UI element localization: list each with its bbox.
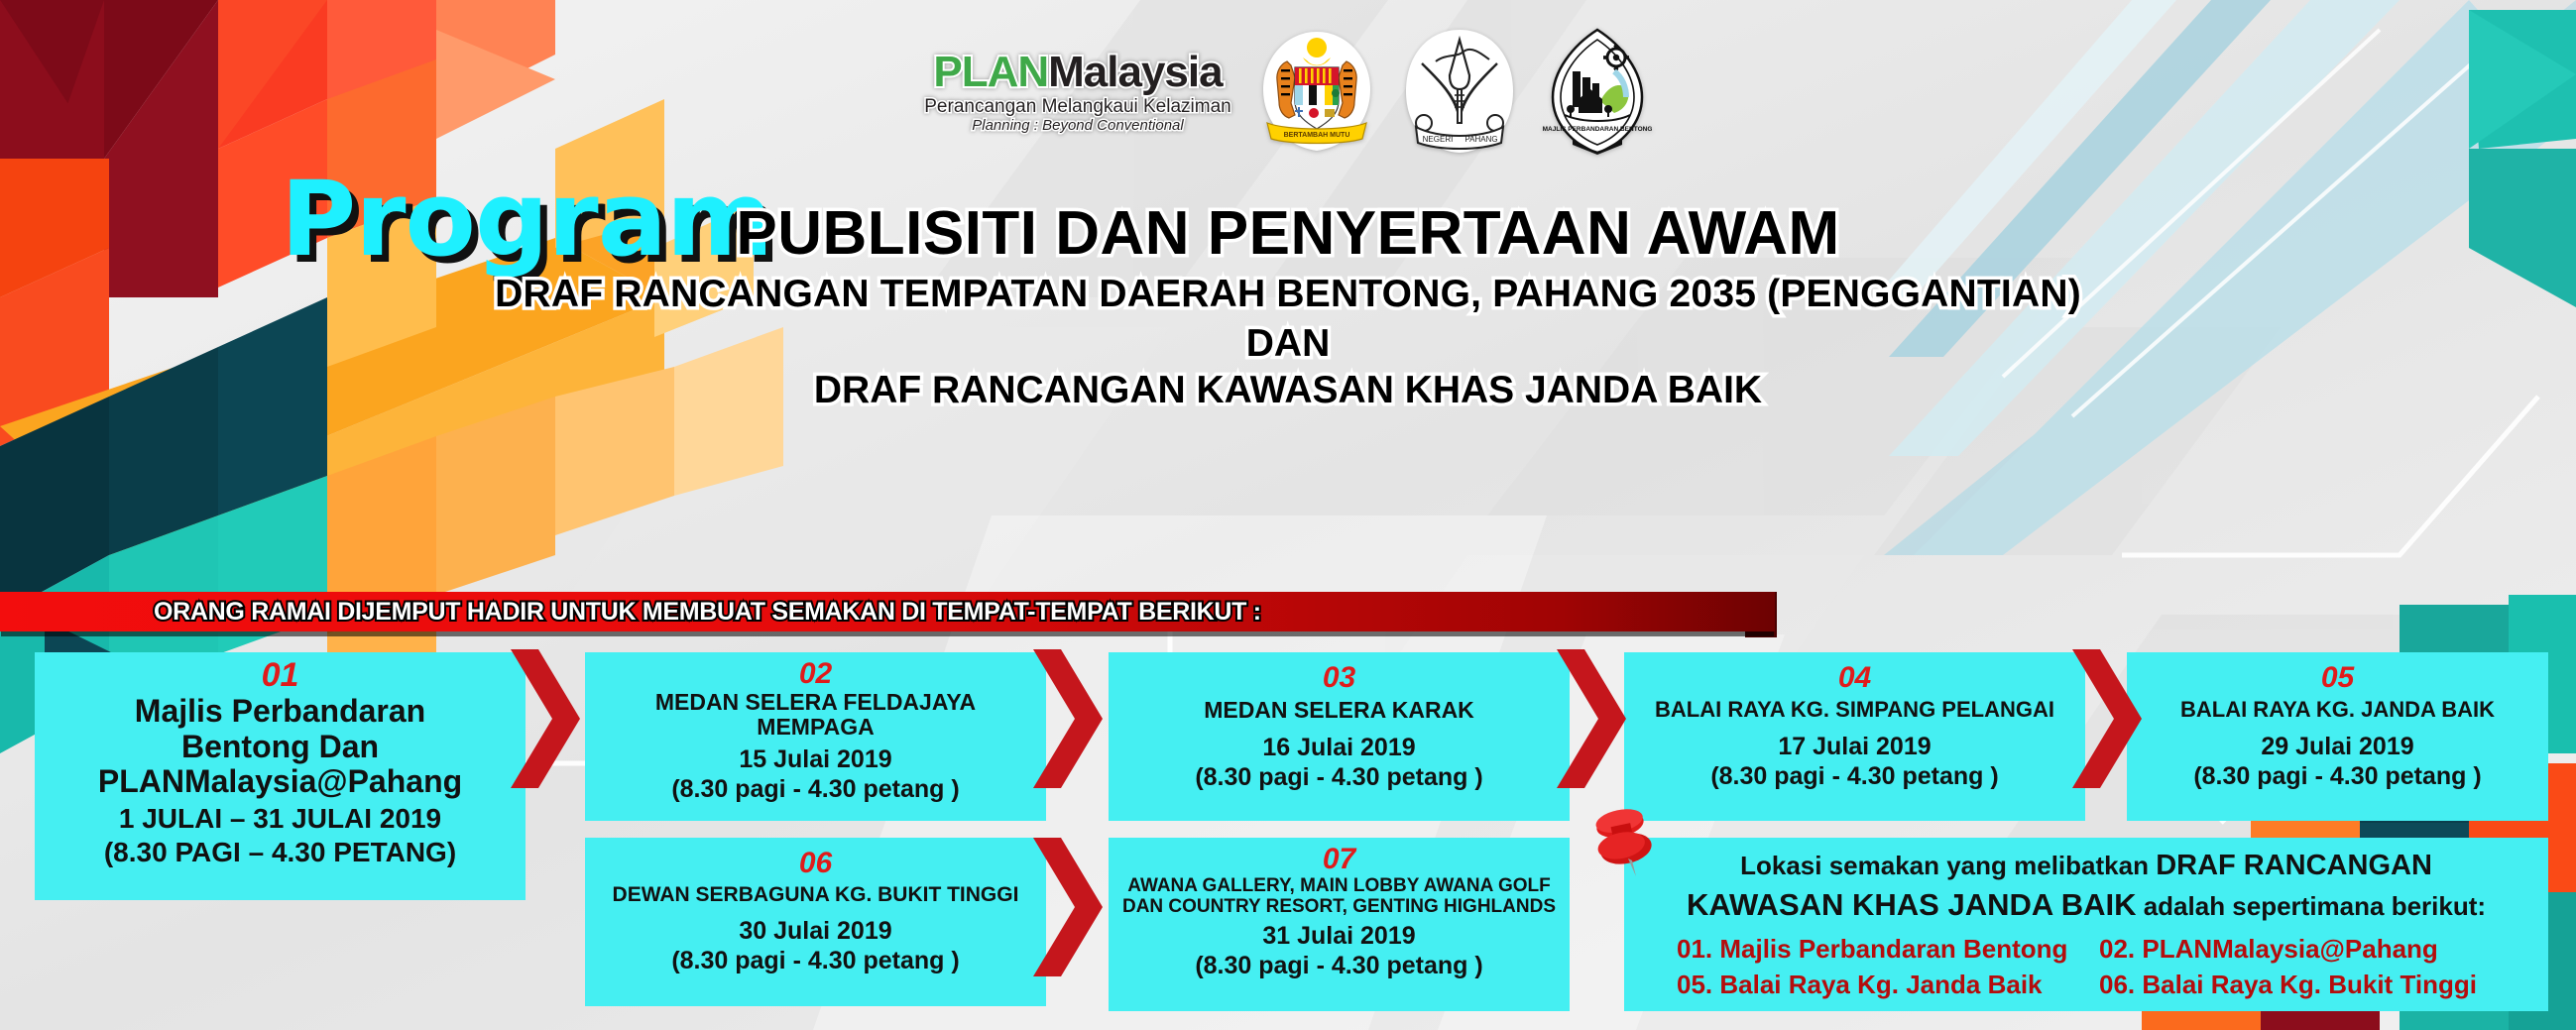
planmalaysia-malaysia-text: Malaysia — [1048, 48, 1222, 96]
logo-row: PLANMalaysia Perancangan Melangkaui Kela… — [0, 22, 2576, 161]
venue-name-line: Majlis Perbandaran — [135, 694, 425, 730]
negeri-pahang-crest-icon: NEGERI PAHANG — [1402, 28, 1517, 155]
venue-time: (8.30 PAGI – 4.30 PETANG) — [104, 836, 456, 869]
venue-time: (8.30 pagi - 4.30 petang ) — [1195, 951, 1482, 980]
svg-text:BERTAMBAH MUTU: BERTAMBAH MUTU — [1283, 132, 1349, 139]
venue-number: 07 — [1323, 844, 1355, 875]
venue-number: 05 — [2321, 662, 2354, 694]
venue-name-line: PLANMalaysia@Pahang — [98, 764, 462, 800]
planmalaysia-tagline-en: Planning : Beyond Conventional — [972, 118, 1184, 133]
venue-date: 31 Julai 2019 — [1262, 921, 1415, 951]
venue-card-01[interactable]: 01 Majlis Perbandaran Bentong Dan PLANMa… — [35, 652, 526, 900]
info-row1-bold: DRAF RANCANGAN — [2156, 850, 2432, 881]
venue-name-line: BALAI RAYA KG. JANDA BAIK — [2180, 698, 2495, 723]
title-line-2: DRAF RANCANGAN TEMPATAN DAERAH BENTONG, … — [0, 273, 2576, 316]
venue-name-line: MEDAN SELERA KARAK — [1204, 698, 1474, 724]
info-item-05: 05. Balai Raya Kg. Janda Baik — [1677, 969, 2073, 1002]
planmalaysia-tagline-my: Perancangan Melangkaui Kelaziman — [924, 97, 1230, 116]
majlis-perbandaran-bentong-crest-icon: MAJLIS PERBANDARAN BENTONG — [1543, 28, 1652, 155]
venue-date: 15 Julai 2019 — [739, 744, 891, 774]
venue-name-line: DEWAN SERBAGUNA KG. BUKIT TINGGI — [613, 883, 1019, 907]
venue-date: 16 Julai 2019 — [1262, 733, 1415, 762]
venue-name-line: AWANA GALLERY, MAIN LOBBY AWANA GOLF — [1127, 875, 1550, 896]
venue-name-line: MEDAN SELERA FELDAJAYA — [655, 690, 976, 716]
invitation-ribbon-text: ORANG RAMAI DIJEMPUT HADIR UNTUK MEMBUAT… — [154, 592, 1775, 631]
info-item-02: 02. PLANMalaysia@Pahang — [2099, 933, 2496, 967]
chevron-arrow-icon-3 — [1557, 649, 1626, 788]
venue-date: 30 Julai 2019 — [739, 916, 891, 946]
title-line-1: PUBLISITI DAN PENYERTAAN AWAM — [0, 198, 2576, 269]
info-row2-plain: adalah sepertimana berikut: — [2136, 891, 2486, 921]
venue-number: 02 — [799, 658, 832, 690]
venue-time: (8.30 pagi - 4.30 petang ) — [1710, 761, 1998, 791]
venue-time: (8.30 pagi - 4.30 petang ) — [2193, 761, 2481, 791]
info-row2-bold: KAWASAN KHAS JANDA BAIK — [1687, 887, 2137, 922]
title-line-3: DAN — [0, 322, 2576, 366]
venue-number: 01 — [262, 658, 299, 694]
janda-baik-info-panel: Lokasi semakan yang melibatkan DRAF RANC… — [1624, 838, 2548, 1011]
invitation-ribbon: ORANG RAMAI DIJEMPUT HADIR UNTUK MEMBUAT… — [0, 592, 1775, 631]
info-row1-plain: Lokasi semakan yang melibatkan — [1740, 851, 2156, 880]
venue-number: 04 — [1838, 662, 1871, 694]
info-item-06: 06. Balai Raya Kg. Bukit Tinggi — [2099, 969, 2496, 1002]
venue-date: 1 JULAI – 31 JULAI 2019 — [119, 802, 441, 836]
planmalaysia-plan-text: PLAN — [933, 48, 1048, 96]
svg-text:MAJLIS PERBANDARAN BENTONG: MAJLIS PERBANDARAN BENTONG — [1543, 126, 1652, 133]
venue-name-line: MEMPAGA — [757, 715, 874, 741]
venue-date: 17 Julai 2019 — [1778, 732, 1931, 761]
venue-name-line: DAN COUNTRY RESORT, GENTING HIGHLANDS — [1122, 896, 1556, 917]
venue-card-04[interactable]: 04 BALAI RAYA KG. SIMPANG PELANGAI 17 Ju… — [1624, 652, 2085, 821]
chevron-arrow-icon-5 — [1033, 838, 1103, 976]
venue-card-07[interactable]: 07 AWANA GALLERY, MAIN LOBBY AWANA GOLF … — [1109, 838, 1570, 1011]
title-line-4: DRAF RANCANGAN KAWASAN KHAS JANDA BAIK — [0, 369, 2576, 412]
pushpin-icon — [1586, 803, 1666, 892]
venue-card-05[interactable]: 05 BALAI RAYA KG. JANDA BAIK 29 Julai 20… — [2127, 652, 2548, 821]
chevron-arrow-icon-1 — [511, 649, 580, 788]
info-item-01: 01. Majlis Perbandaran Bentong — [1677, 933, 2073, 967]
poster-banner: PLANMalaysia Perancangan Melangkaui Kela… — [0, 0, 2576, 1030]
venue-number: 03 — [1323, 662, 1355, 694]
venue-time: (8.30 pagi - 4.30 petang ) — [1195, 762, 1482, 792]
venue-name-line: BALAI RAYA KG. SIMPANG PELANGAI — [1655, 698, 2054, 723]
venue-time: (8.30 pagi - 4.30 petang ) — [671, 946, 959, 975]
svg-text:PAHANG: PAHANG — [1464, 135, 1497, 144]
chevron-arrow-icon-2 — [1033, 649, 1103, 788]
chevron-arrow-icon-4 — [2072, 649, 2142, 788]
planmalaysia-logo: PLANMalaysia Perancangan Melangkaui Kela… — [924, 51, 1230, 133]
svg-text:NEGERI: NEGERI — [1422, 135, 1453, 144]
venue-date: 29 Julai 2019 — [2261, 732, 2413, 761]
venue-card-02[interactable]: 02 MEDAN SELERA FELDAJAYA MEMPAGA 15 Jul… — [585, 652, 1046, 821]
jata-negara-malaysia-crest-icon: BERTAMBAH MUTU — [1257, 28, 1376, 155]
venue-name-line: Bentong Dan — [181, 730, 379, 765]
venue-card-03[interactable]: 03 MEDAN SELERA KARAK 16 Julai 2019 (8.3… — [1109, 652, 1570, 821]
venue-card-06[interactable]: 06 DEWAN SERBAGUNA KG. BUKIT TINGGI 30 J… — [585, 838, 1046, 1006]
venue-time: (8.30 pagi - 4.30 petang ) — [671, 774, 959, 804]
venue-number: 06 — [799, 848, 832, 879]
